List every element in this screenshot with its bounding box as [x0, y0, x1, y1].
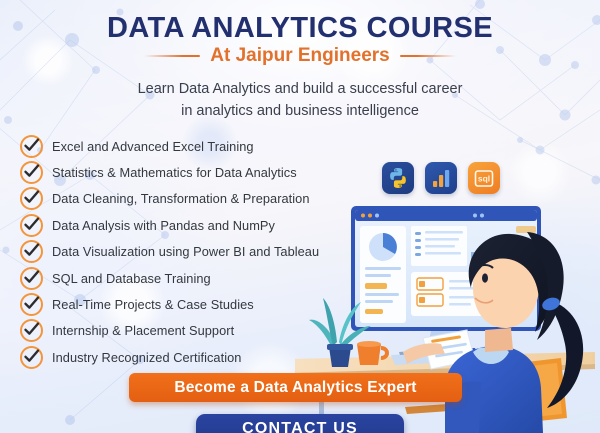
- list-item: Statistics & Mathematics for Data Analyt…: [20, 159, 360, 185]
- list-item-label: Data Visualization using Power BI and Ta…: [52, 244, 319, 259]
- list-item-label: Excel and Advanced Excel Training: [52, 139, 254, 154]
- lede-line-1: Learn Data Analytics and build a success…: [0, 78, 600, 100]
- check-circle-icon: [20, 214, 43, 237]
- sql-database-icon: sql: [468, 162, 500, 194]
- list-item-label: SQL and Database Training: [52, 271, 211, 286]
- python-logo-icon: [382, 162, 414, 194]
- svg-text:sql: sql: [478, 174, 490, 184]
- page-title: DATA ANALYTICS COURSE: [0, 14, 600, 43]
- list-item-label: Statistics & Mathematics for Data Analyt…: [52, 165, 297, 180]
- list-item-label: Real-Time Projects & Case Studies: [52, 297, 254, 312]
- list-item-label: Industry Recognized Certification: [52, 350, 241, 365]
- check-circle-icon: [20, 240, 43, 263]
- list-item: Excel and Advanced Excel Training: [20, 133, 360, 159]
- check-circle-icon: [20, 319, 43, 342]
- tool-icon-row: sql: [382, 162, 500, 194]
- check-circle-icon: [20, 346, 43, 369]
- check-circle-icon: [20, 187, 43, 210]
- check-circle-icon: [20, 161, 43, 184]
- check-circle-icon: [20, 135, 43, 158]
- divider-line-right: [400, 55, 456, 57]
- list-item-label: Internship & Placement Support: [52, 323, 234, 338]
- check-circle-icon: [20, 267, 43, 290]
- list-item-label: Data Analysis with Pandas and NumPy: [52, 218, 275, 233]
- check-circle-icon: [20, 293, 43, 316]
- divider-line-left: [144, 55, 200, 57]
- contact-us-button[interactable]: CONTACT US: [196, 414, 404, 433]
- subtitle-row: At Jaipur Engineers: [0, 46, 600, 65]
- lede-line-2: in analytics and business intelligence: [0, 100, 600, 122]
- poster-canvas: DATA ANALYTICS COURSE At Jaipur Engineer…: [0, 0, 600, 433]
- list-item-label: Data Cleaning, Transformation & Preparat…: [52, 191, 310, 206]
- power-bi-bar-chart-icon: [425, 162, 457, 194]
- become-expert-button[interactable]: Become a Data Analytics Expert: [129, 373, 462, 402]
- page-subtitle: At Jaipur Engineers: [210, 46, 390, 65]
- lede-text: Learn Data Analytics and build a success…: [0, 78, 600, 123]
